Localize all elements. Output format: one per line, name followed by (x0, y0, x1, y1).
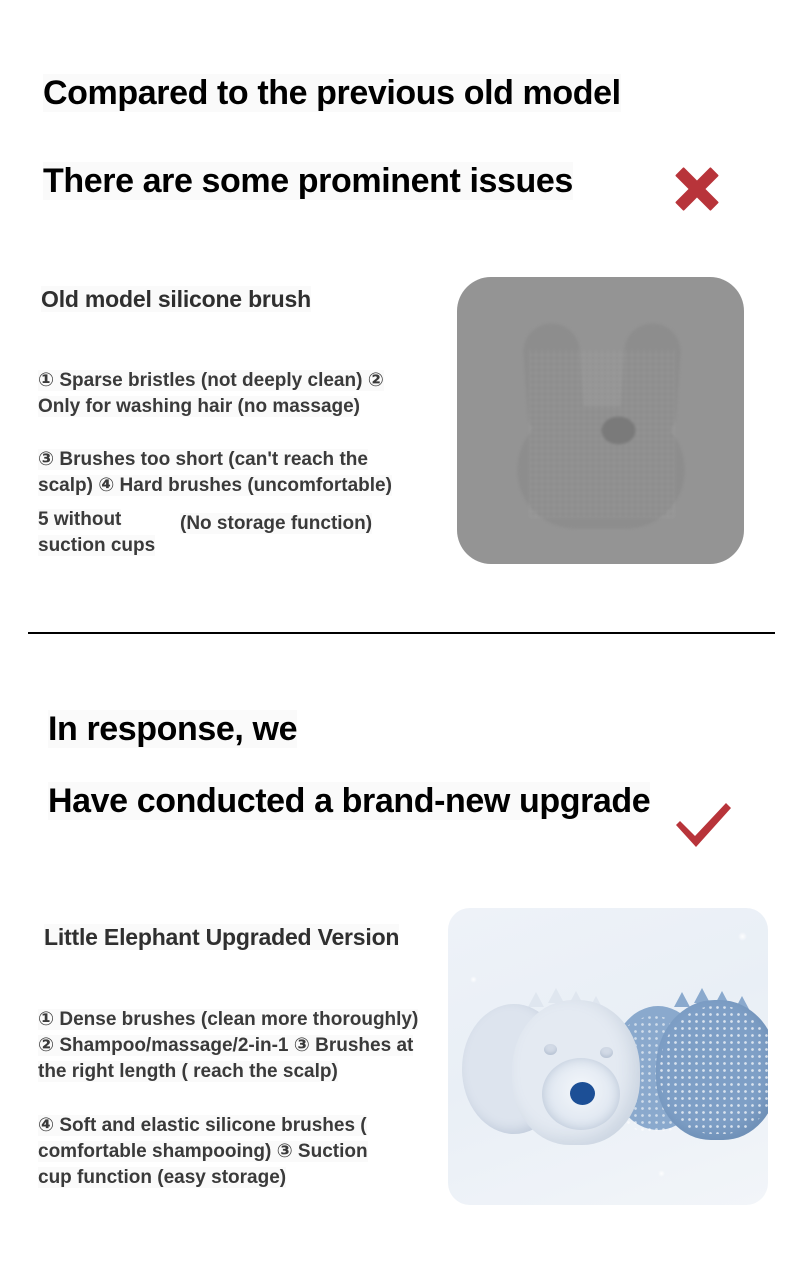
old-issue-item: 5 without suction cups (38, 507, 168, 559)
elephant-eye-bump (600, 1047, 613, 1058)
new-feature-item-text: ① Dense brushes (clean more thoroughly) … (38, 1009, 418, 1082)
old-issue-item-text: 5 without suction cups (38, 509, 155, 556)
product-comparison-page: Compared to the previous old model There… (0, 0, 790, 1264)
old-section-heading-line1-text: Compared to the previous old model (43, 74, 621, 112)
old-section-heading-line2: There are some prominent issues (43, 160, 643, 202)
brush-center-hole (601, 417, 635, 445)
bristle-texture (660, 1006, 768, 1134)
elephant-eye-bump (544, 1044, 557, 1055)
old-issue-item: ① Sparse bristles (not deeply clean) ② O… (38, 368, 416, 420)
new-section-heading-line1-text: In response, we (48, 710, 297, 748)
sparkle-icon (738, 932, 747, 941)
old-section-heading-line1: Compared to the previous old model (43, 72, 723, 114)
new-feature-item: ④ Soft and elastic silicone brushes ( co… (38, 1113, 406, 1192)
new-feature-item-text: ④ Soft and elastic silicone brushes ( co… (38, 1115, 368, 1188)
sparkle-icon (470, 976, 477, 983)
old-section-heading-line2-text: There are some prominent issues (43, 162, 573, 200)
old-issue-item-text: ① Sparse bristles (not deeply clean) ② O… (38, 370, 384, 417)
new-product-label: Little Elephant Upgraded Version (44, 923, 464, 953)
old-issue-item: (No storage function) (180, 511, 410, 537)
new-section-heading-line1: In response, we (48, 708, 548, 750)
old-silicone-brush-photo (457, 277, 744, 564)
light-elephant-brush-with-suction-cup (466, 1000, 641, 1145)
section-divider (28, 632, 775, 634)
old-issue-item: ③ Brushes too short (can't reach the sca… (38, 447, 420, 499)
new-section-heading-line2-text: Have conducted a brand-new upgrade (48, 782, 650, 820)
sparkle-icon (658, 1170, 665, 1177)
suction-cup-hole (570, 1082, 595, 1105)
old-issue-item-text: (No storage function) (180, 513, 372, 534)
old-product-label: Old model silicone brush (41, 285, 441, 315)
old-brush-illustration (513, 324, 688, 529)
old-product-label-text: Old model silicone brush (41, 286, 311, 312)
cross-icon (668, 163, 726, 215)
check-icon (670, 795, 736, 853)
new-product-label-text: Little Elephant Upgraded Version (44, 924, 399, 950)
new-section-heading-line2: Have conducted a brand-new upgrade (48, 780, 658, 822)
new-feature-item: ① Dense brushes (clean more thoroughly) … (38, 1007, 428, 1086)
old-issue-item-text: ③ Brushes too short (can't reach the sca… (38, 449, 392, 496)
upgraded-elephant-brush-photo (448, 908, 768, 1205)
